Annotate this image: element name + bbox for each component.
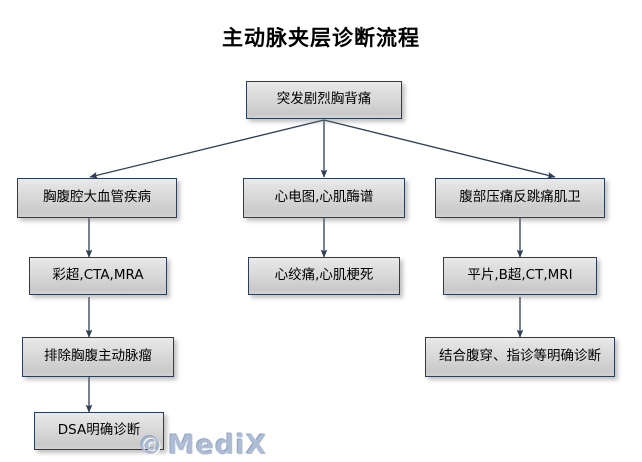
page-title: 主动脉夹层诊断流程 — [0, 22, 642, 52]
connector-layer — [0, 0, 642, 462]
connector-root-to-left — [90, 120, 324, 177]
copyright-icon: © — [138, 431, 164, 460]
node-center-2[interactable]: 心绞痛,心肌梗死 — [248, 257, 400, 295]
node-right-2[interactable]: 平片,B超,CT,MRI — [443, 257, 597, 295]
connector-root-to-right — [324, 120, 555, 177]
node-branch-center[interactable]: 心电图,心肌酶谱 — [243, 178, 405, 218]
node-right-3[interactable]: 结合腹穿、指诊等明确诊断 — [425, 337, 615, 377]
node-branch-left[interactable]: 胸腹腔大血管疾病 — [17, 178, 177, 218]
flowchart-canvas: 主动脉夹层诊断流程 突发剧烈胸背痛 胸腹腔大血管疾病 心电图,心肌酶谱 — [0, 0, 642, 462]
node-branch-right[interactable]: 腹部压痛反跳痛肌卫 — [435, 178, 605, 218]
watermark: ©MediX — [138, 430, 268, 461]
node-root[interactable]: 突发剧烈胸背痛 — [246, 81, 402, 119]
node-left-2[interactable]: 彩超,CTA,MRA — [29, 257, 167, 295]
node-left-3[interactable]: 排除胸腹主动脉瘤 — [22, 337, 174, 377]
watermark-text: MediX — [168, 430, 268, 461]
